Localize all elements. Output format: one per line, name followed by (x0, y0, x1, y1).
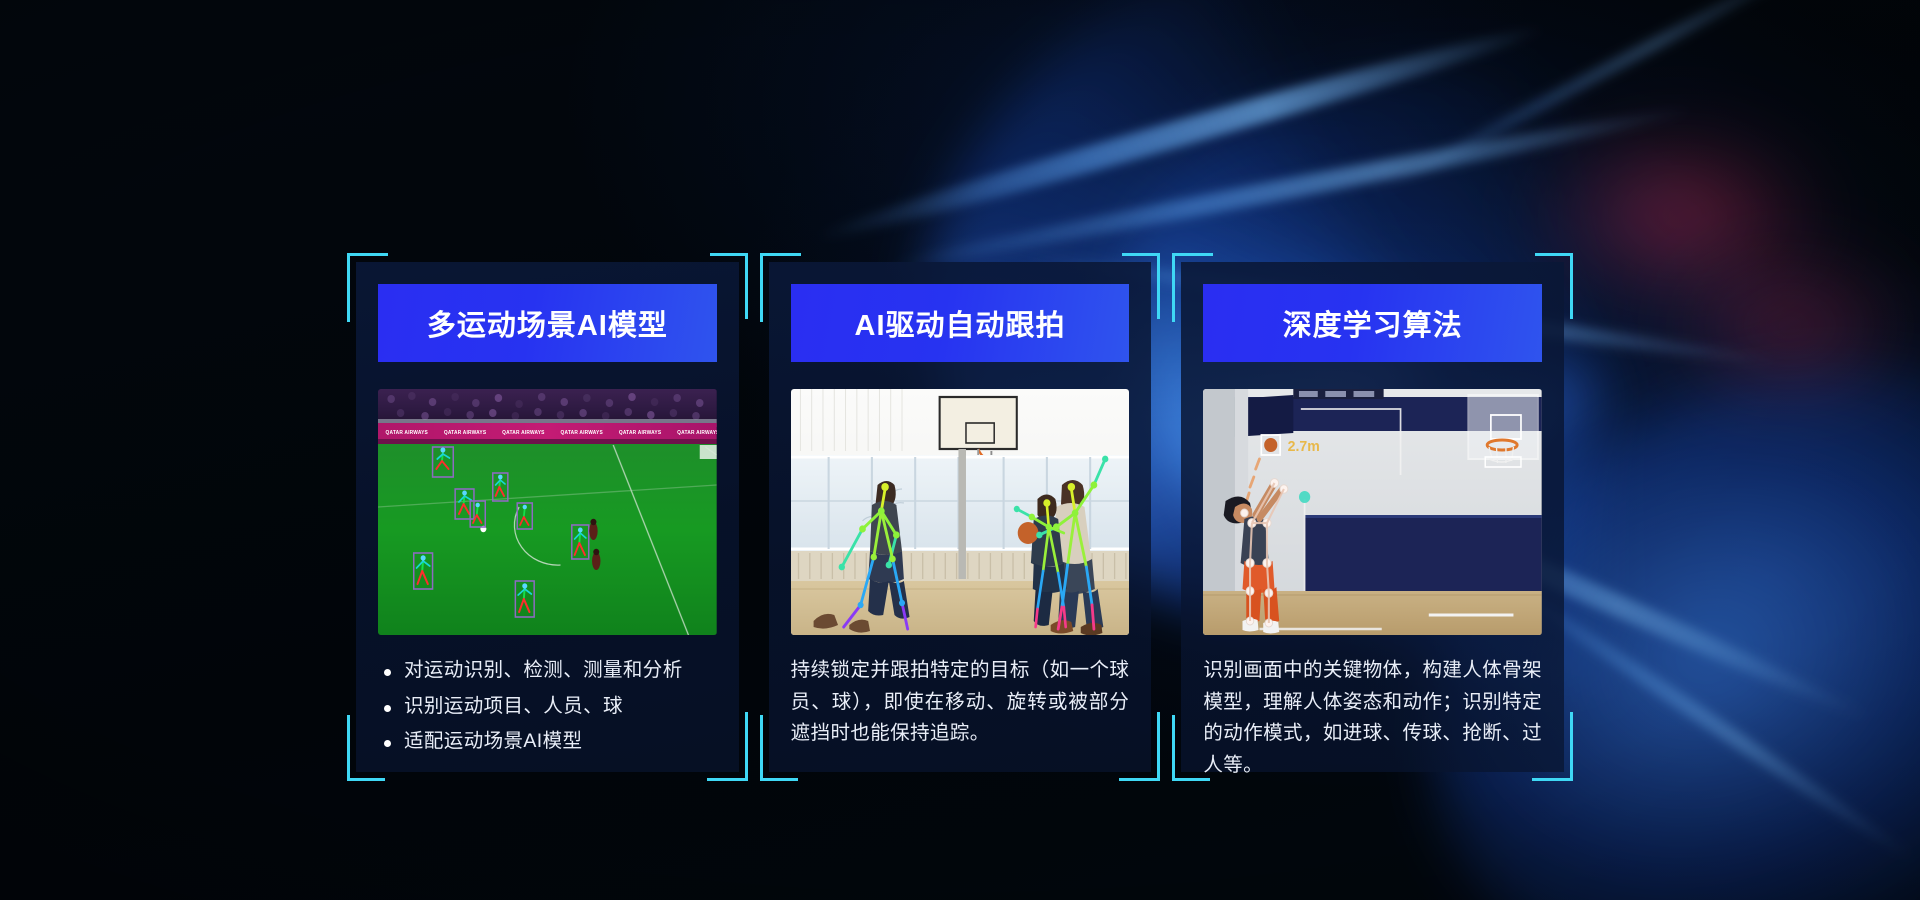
card-body-3: 识别画面中的关键物体，构建人体骨架模型，理解人体姿态和动作；识别特定的动作模式，… (1203, 655, 1542, 781)
basketball-gym-pose-tracking-image (791, 389, 1130, 635)
feature-card-deep-learning-algorithm[interactable]: 深度学习算法 (1181, 262, 1564, 772)
feature-card-ai-auto-tracking-shot[interactable]: AI驱动自动跟拍 (769, 262, 1152, 772)
list-item: 对运动识别、检测、测量和分析 (378, 655, 717, 687)
card-title-banner-1: 多运动场景AI模型 (378, 284, 717, 362)
list-item: 适配运动场景AI模型 (378, 726, 717, 758)
svg-text:QATAR AIRWAYS: QATAR AIRWAYS (619, 430, 662, 436)
svg-text:2.7m: 2.7m (1288, 439, 1320, 455)
soccer-pose-detection-image: QATAR AIRWAYS QATAR AIRWAYS QATAR AIRWAY… (378, 389, 717, 635)
feature-card-multi-sport-ai-model[interactable]: 多运动场景AI模型 (356, 262, 739, 772)
svg-text:QATAR AIRWAYS: QATAR AIRWAYS (561, 430, 604, 436)
feature-bullet-list-1: 对运动识别、检测、测量和分析 识别运动项目、人员、球 适配运动场景AI模型 (378, 655, 717, 758)
card-title-banner-3: 深度学习算法 (1203, 284, 1542, 362)
feature-card-row: 多运动场景AI模型 (356, 262, 1564, 772)
svg-text:QATAR AIRWAYS: QATAR AIRWAYS (444, 430, 487, 436)
card-title-banner-2: AI驱动自动跟拍 (791, 284, 1130, 362)
feature-paragraph-3: 识别画面中的关键物体，构建人体骨架模型，理解人体姿态和动作；识别特定的动作模式，… (1203, 655, 1542, 781)
basketball-shot-measurement-image: 2.7m (1203, 389, 1542, 635)
card-body-1: 对运动识别、检测、测量和分析 识别运动项目、人员、球 适配运动场景AI模型 (378, 655, 717, 772)
svg-text:QATAR AIRWAYS: QATAR AIRWAYS (677, 430, 717, 436)
list-item: 识别运动项目、人员、球 (378, 691, 717, 723)
card-body-2: 持续锁定并跟拍特定的目标（如一个球员、球），即使在移动、旋转或被部分遮挡时也能保… (791, 655, 1130, 772)
svg-text:QATAR AIRWAYS: QATAR AIRWAYS (502, 430, 545, 436)
feature-paragraph-2: 持续锁定并跟拍特定的目标（如一个球员、球），即使在移动、旋转或被部分遮挡时也能保… (791, 655, 1130, 750)
svg-text:QATAR AIRWAYS: QATAR AIRWAYS (386, 430, 429, 436)
